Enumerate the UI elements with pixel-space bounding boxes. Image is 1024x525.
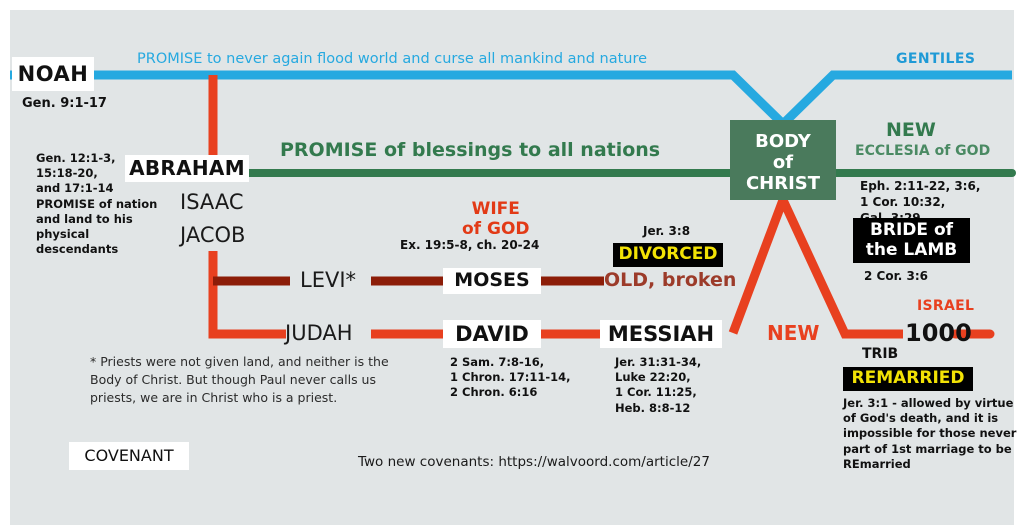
node-messiah[interactable]: MESSIAH: [600, 320, 722, 348]
bride-of-lamb-label: BRIDE of the LAMB: [866, 221, 958, 259]
bride-reference: 2 Cor. 3:6: [864, 269, 928, 285]
node-body-of-christ-label: BODY of CHRIST: [730, 131, 836, 195]
priests-footnote: * Priests were not given land, and neith…: [90, 353, 389, 406]
covenant-legend: COVENANT: [69, 442, 189, 470]
millennium-label: 1000: [905, 320, 972, 346]
body-new-left-leg: [733, 200, 783, 333]
node-moses[interactable]: MOSES: [443, 268, 541, 294]
messiah-reference: Jer. 31:31-34, Luke 22:20, 1 Cor. 11:25,…: [615, 355, 701, 416]
new-covenant-label: NEW: [886, 120, 936, 141]
wife-of-god-label: WIFE of GOD: [462, 199, 530, 240]
divorced-badge-label: DIVORCED: [618, 245, 717, 264]
bride-of-lamb-badge[interactable]: BRIDE of the LAMB: [853, 218, 970, 263]
remarried-reference: Jer. 3:1 - allowed by virtue of God's de…: [843, 396, 1016, 472]
divorced-reference: Jer. 3:8: [643, 224, 690, 240]
node-jacob: JACOB: [180, 224, 245, 247]
node-abraham-label: ABRAHAM: [129, 158, 245, 179]
remarried-badge[interactable]: REMARRIED: [843, 367, 973, 391]
noahic-promise-label: PROMISE to never again flood world and c…: [137, 52, 647, 68]
source-note: Two new covenants: https://walvoord.com/…: [358, 455, 710, 470]
node-noah[interactable]: NOAH: [12, 57, 94, 91]
node-messiah-label: MESSIAH: [608, 323, 714, 345]
david-reference: 2 Sam. 7:8-16, 1 Chron. 17:11-14, 2 Chro…: [450, 355, 571, 401]
covenant-legend-label: COVENANT: [84, 448, 173, 465]
jacob-branch-line: [213, 251, 286, 334]
node-moses-label: MOSES: [454, 271, 529, 291]
moses-reference: Ex. 19:5-8, ch. 20-24: [400, 238, 539, 254]
old-broken-label: OLD, broken: [604, 270, 736, 291]
ecclesia-label: ECCLESIA of GOD: [855, 144, 990, 159]
node-noah-label: NOAH: [18, 63, 89, 85]
noahic-covenant-line: [10, 75, 1012, 124]
node-judah: JUDAH: [285, 322, 353, 345]
divorced-badge[interactable]: DIVORCED: [613, 243, 723, 267]
node-levi: LEVI*: [300, 269, 356, 292]
node-isaac: ISAAC: [180, 191, 244, 214]
node-abraham[interactable]: ABRAHAM: [125, 155, 249, 182]
remarried-badge-label: REMARRIED: [851, 369, 964, 388]
frame-top-edge: [0, 0, 1024, 10]
frame-left-edge: [0, 0, 10, 525]
new-israel-label: NEW: [767, 322, 819, 344]
abrahamic-promise-label: PROMISE of blessings to all nations: [280, 140, 660, 161]
diagram-canvas: NOAH Gen. 9:1-17 PROMISE to never again …: [0, 0, 1024, 525]
node-david-label: DAVID: [455, 323, 529, 345]
tribulation-label: TRIB: [862, 347, 898, 362]
node-david[interactable]: DAVID: [443, 320, 541, 348]
noah-reference: Gen. 9:1-17: [22, 95, 107, 112]
israel-label: ISRAEL: [917, 299, 974, 314]
gentiles-label: GENTILES: [896, 52, 975, 67]
